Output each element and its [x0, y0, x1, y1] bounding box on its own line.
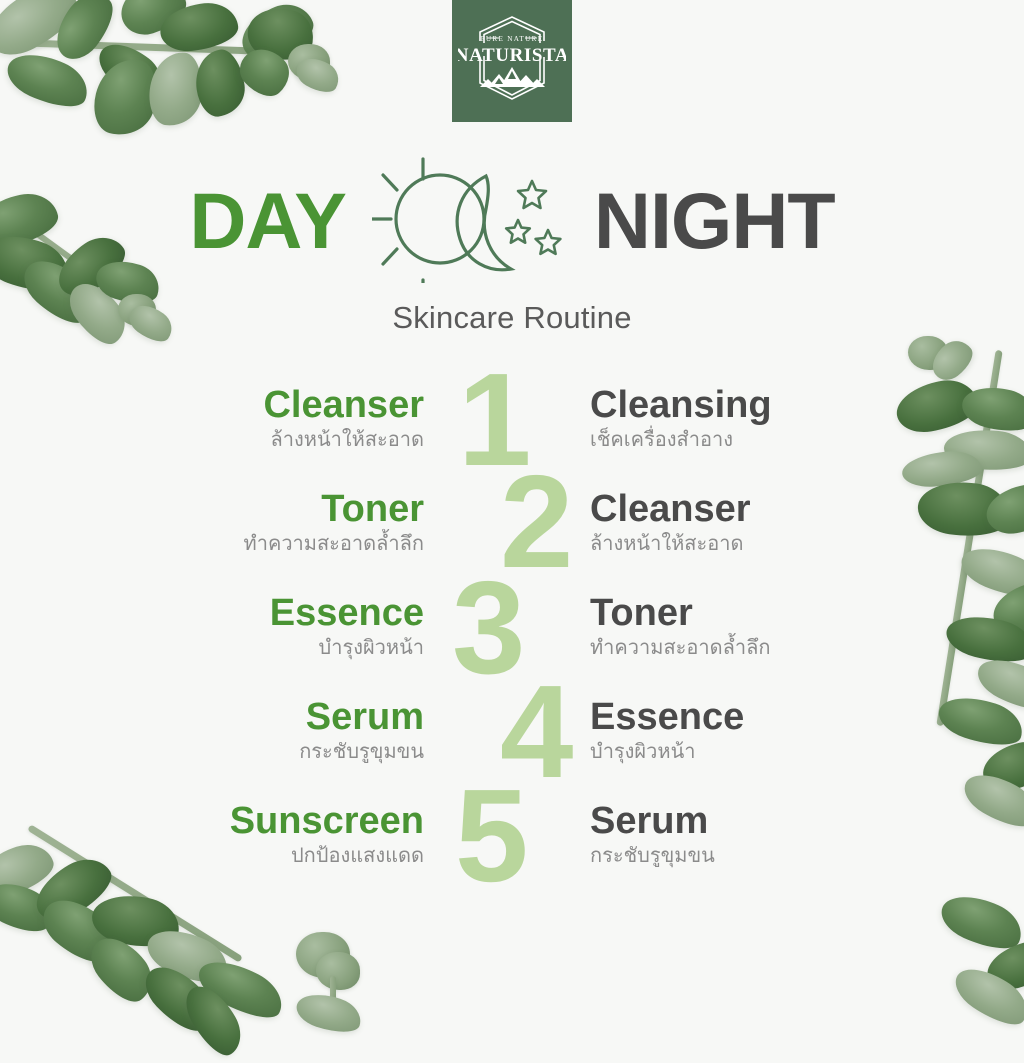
night-step-1-sub: เช็คเครื่องสำอาง — [590, 427, 920, 454]
day-step-3-name: Essence — [94, 594, 424, 634]
logo-name-text: NATURISTA — [458, 45, 566, 66]
day-step-4-name: Serum — [94, 698, 424, 738]
night-step-3-sub: ทำความสะอาดล้ำลึก — [590, 635, 920, 662]
night-step-1-name: Cleansing — [590, 386, 920, 426]
brand-logo: PURE NATURE NATURISTA — [452, 0, 572, 122]
eucalyptus-bud — [316, 952, 360, 990]
eucalyptus-leaf — [114, 0, 192, 41]
eucalyptus-leaf — [91, 33, 171, 108]
eucalyptus-leaf — [136, 955, 222, 1042]
eucalyptus-leaf — [292, 987, 365, 1040]
logo-tagline-text: PURE NATURE — [481, 35, 544, 43]
day-step-2-sub: ทำความสะอาดล้ำลึก — [94, 531, 424, 558]
night-title: NIGHT — [594, 181, 835, 260]
eucalyptus-leaf — [88, 887, 184, 954]
night-step-1: Cleansing เช็คเครื่องสำอาง — [590, 386, 920, 454]
routine-lists: Cleanser ล้างหน้าให้สะอาด Toner ทำความสะ… — [0, 368, 1024, 888]
eucalyptus-leaf — [234, 0, 321, 68]
night-step-4: Essence บำรุงผิวหน้า — [590, 698, 920, 766]
eucalyptus-leaf — [1, 43, 96, 117]
eucalyptus-leaf — [232, 39, 298, 106]
eucalyptus-stem — [0, 38, 320, 57]
page-subtitle: Skincare Routine — [0, 300, 1024, 336]
naturista-logo-mark: PURE NATURE NATURISTA — [458, 11, 566, 111]
eucalyptus-leaf — [44, 0, 123, 68]
eucalyptus-leaf — [192, 47, 249, 119]
night-step-2: Cleanser ล้างหน้าให้สะอาด — [590, 490, 920, 558]
night-step-5-sub: กระชับรูขุมขน — [590, 843, 920, 870]
day-step-3-sub: บำรุงผิวหน้า — [94, 635, 424, 662]
eucalyptus-leaf — [935, 885, 1024, 959]
day-step-1-name: Cleanser — [94, 386, 424, 426]
day-step-4-sub: กระชับรูขุมขน — [94, 739, 424, 766]
eucalyptus-leaf — [948, 957, 1024, 1035]
day-step-3: Essence บำรุงผิวหน้า — [94, 594, 424, 662]
day-step-2: Toner ทำความสะอาดล้ำลึก — [94, 490, 424, 558]
day-step-4: Serum กระชับรูขุมขน — [94, 698, 424, 766]
night-step-3: Toner ทำความสะอาดล้ำลึก — [590, 594, 920, 662]
eucalyptus-leaf — [87, 52, 164, 142]
night-step-5-name: Serum — [590, 802, 920, 842]
eucalyptus-leaf — [242, 0, 320, 68]
night-step-2-sub: ล้างหน้าให้สะอาด — [590, 531, 920, 558]
eucalyptus-leaf — [291, 51, 344, 99]
day-step-5-sub: ปกป้องแสงแดด — [94, 843, 424, 870]
day-title: DAY — [189, 181, 346, 260]
eucalyptus-leaf — [82, 926, 163, 1011]
sun-moon-stars-icon — [372, 157, 568, 283]
eucalyptus-leaf — [158, 0, 240, 54]
night-step-4-name: Essence — [590, 698, 920, 738]
day-step-2-name: Toner — [94, 490, 424, 530]
eucalyptus-leaf — [146, 49, 205, 128]
eucalyptus-leaf — [178, 977, 251, 1063]
night-step-2-name: Cleanser — [590, 490, 920, 530]
eucalyptus-bud — [296, 932, 350, 978]
eucalyptus-leaf — [141, 919, 236, 993]
eucalyptus-leaf — [982, 935, 1024, 995]
eucalyptus-stem — [330, 976, 336, 1028]
night-step-5: Serum กระชับรูขุมขน — [590, 802, 920, 870]
eucalyptus-leaf — [34, 887, 125, 974]
eucalyptus-leaf — [191, 949, 290, 1028]
day-step-5: Sunscreen ปกป้องแสงแดด — [94, 802, 424, 870]
day-step-1-sub: ล้างหน้าให้สะอาด — [94, 427, 424, 454]
night-step-4-sub: บำรุงผิวหน้า — [590, 739, 920, 766]
headline: DAY NIGHT — [0, 160, 1024, 280]
day-step-5-name: Sunscreen — [94, 802, 424, 842]
eucalyptus-leaf — [0, 0, 87, 65]
night-step-3-name: Toner — [590, 594, 920, 634]
eucalyptus-bud — [288, 44, 330, 80]
day-step-1: Cleanser ล้างหน้าให้สะอาด — [94, 386, 424, 454]
